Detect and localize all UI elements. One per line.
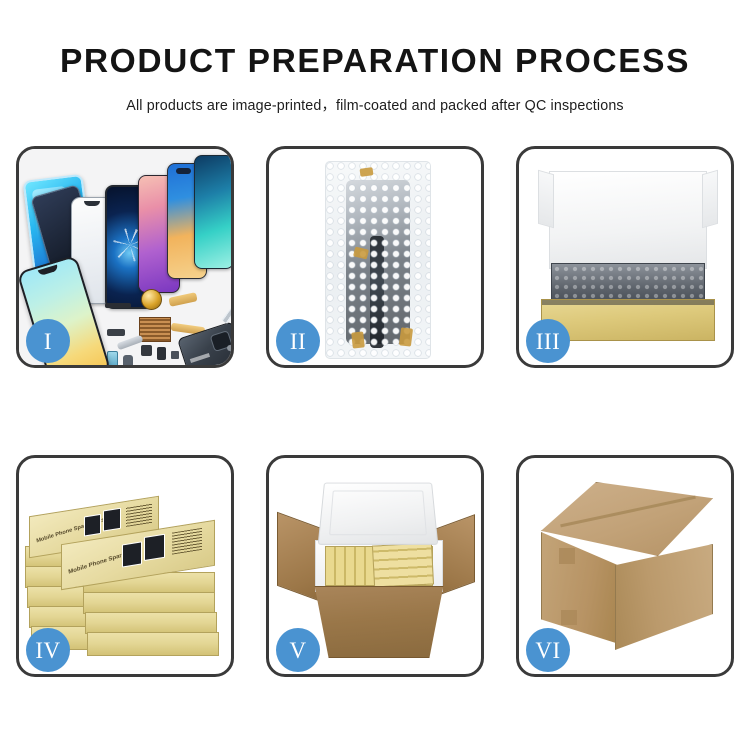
page-subtitle: All products are image-printed，film-coat…: [0, 81, 750, 115]
carton-right-face: [615, 544, 713, 650]
step-panel-2[interactable]: II: [266, 146, 484, 368]
page-header: PRODUCT PREPARATION PROCESS All products…: [0, 0, 750, 115]
carton-left-face: [541, 532, 619, 644]
carton-tab-lower: [561, 610, 577, 625]
flex-cable-c: [117, 335, 144, 350]
chip-part-c: [171, 351, 179, 359]
tape-piece-1: [360, 167, 374, 177]
step-badge-3: III: [526, 319, 570, 363]
step-badge-5: V: [276, 628, 320, 672]
box-slab-r2: [83, 592, 215, 614]
tape-piece-4: [399, 327, 413, 346]
process-step-grid: I II III: [16, 146, 734, 677]
box-window-back-a: [84, 514, 101, 537]
camera-module-part: [123, 355, 133, 365]
flex-cable-a: [168, 292, 197, 307]
step-panel-1[interactable]: I: [16, 146, 234, 368]
box-slab-r4: [87, 632, 219, 656]
bar-part-a: [105, 303, 131, 308]
step-panel-4[interactable]: Mobile Phone Spare Parts Mobile Phone Sp…: [16, 455, 234, 677]
bar-part-b: [107, 329, 125, 336]
screw-part-a: [227, 345, 231, 351]
coil-part: [141, 289, 162, 310]
step-badge-4: IV: [26, 628, 70, 672]
box-slab-r3: [85, 612, 217, 634]
copper-grid-part: [139, 317, 171, 342]
step-badge-1: I: [26, 319, 70, 363]
box-spec-lines-front: [172, 528, 202, 555]
carton-base: [309, 586, 449, 658]
carton-tab-upper: [559, 548, 575, 564]
white-foam-lid: [549, 171, 707, 269]
step-panel-5[interactable]: V: [266, 455, 484, 677]
wrapped-part-cable: [370, 236, 384, 348]
tape-piece-3: [351, 331, 365, 348]
tape-piece-2: [353, 246, 369, 259]
step-badge-2: II: [276, 319, 320, 363]
box-window-front-b: [144, 534, 165, 561]
chip-part-b: [157, 347, 166, 360]
step-panel-6[interactable]: VI: [516, 455, 734, 677]
bubble-wrap-package: [325, 161, 431, 359]
box-window-back-b: [103, 508, 121, 532]
spare-parts-group: [105, 285, 231, 365]
step-panel-3[interactable]: III: [516, 146, 734, 368]
phone-screen-teal: [194, 155, 231, 269]
box-spec-lines-back: [126, 503, 152, 527]
chip-part-a: [141, 345, 152, 356]
wrapped-part-body: [346, 180, 410, 344]
box-window-front-a: [122, 541, 142, 567]
step-badge-6: VI: [526, 628, 570, 672]
foam-insert-lid: [318, 483, 439, 545]
page-title: PRODUCT PREPARATION PROCESS: [0, 0, 750, 81]
yellow-boxes-row-b: [372, 542, 434, 587]
